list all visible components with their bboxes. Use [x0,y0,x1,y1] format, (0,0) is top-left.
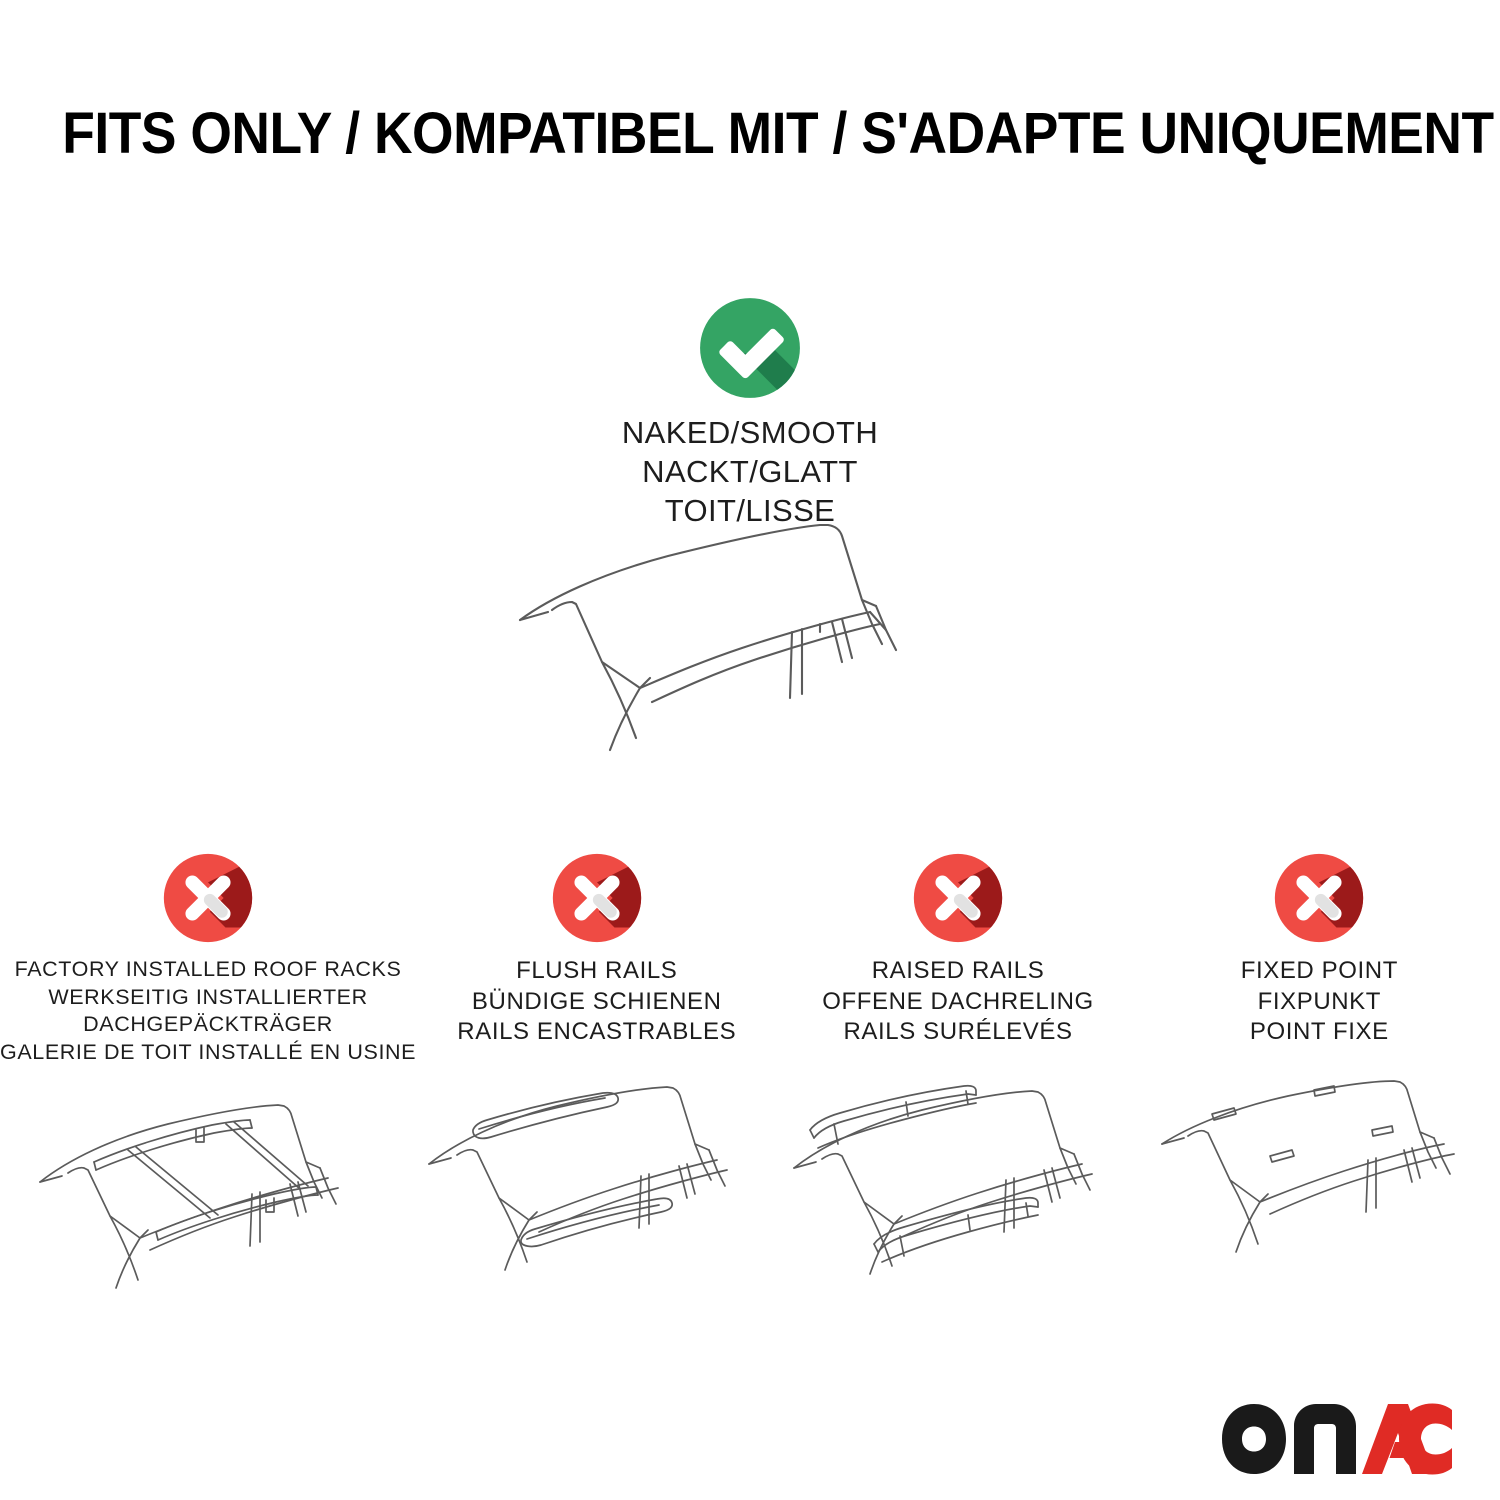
x-circle-icon [551,852,643,944]
brand-name: OMAC [1216,1480,1217,1481]
rejected-label-de-1: BÜNDIGE SCHIENEN [457,987,736,1018]
rejected-labels: FIXED POINT FIXPUNKT POINT FIXE [1241,956,1398,1048]
x-circle-icon [162,852,254,944]
rejected-label-de-1: WERKSEITIG INSTALLIERTER [0,984,416,1012]
rejected-item-flush-rails: FLUSH RAILS BÜNDIGE SCHIENEN RAILS ENCAS… [416,852,777,1312]
roof-with-raised-rails-illustration [777,1072,1138,1312]
approved-label-de: NACKT/GLATT [0,453,1500,492]
x-circle-icon [912,852,1004,944]
page-title-bar: FITS ONLY / KOMPATIBEL MIT / S'ADAPTE UN… [0,104,1500,165]
page-title: FITS ONLY / KOMPATIBEL MIT / S'ADAPTE UN… [62,104,1493,165]
rejected-item-raised-rails: RAISED RAILS OFFENE DACHRELING RAILS SUR… [777,852,1138,1312]
rejected-label-en: FACTORY INSTALLED ROOF RACKS [0,956,416,984]
naked-smooth-roof-illustration [0,512,1500,792]
rejected-labels: FLUSH RAILS BÜNDIGE SCHIENEN RAILS ENCAS… [457,956,736,1048]
rejected-item-fixed-point: FIXED POINT FIXPUNKT POINT FIXE [1139,852,1500,1312]
rejected-label-en: RAISED RAILS [822,956,1094,987]
approved-label-en: NAKED/SMOOTH [0,414,1500,453]
roof-with-factory-rack-illustration [0,1090,416,1330]
roof-with-fixed-points-illustration [1139,1072,1500,1312]
rejected-labels: FACTORY INSTALLED ROOF RACKS WERKSEITIG … [0,956,416,1066]
rejected-roof-types-row: FACTORY INSTALLED ROOF RACKS WERKSEITIG … [0,852,1500,1330]
rejected-label-fr: RAILS SURÉLEVÉS [822,1017,1094,1048]
roof-with-flush-rails-illustration [416,1072,777,1312]
rejected-label-de-1: OFFENE DACHRELING [822,987,1094,1018]
rejected-label-de-1: FIXPUNKT [1241,987,1398,1018]
rejected-label-fr: RAILS ENCASTRABLES [457,1017,736,1048]
rejected-item-factory-installed-roof-racks: FACTORY INSTALLED ROOF RACKS WERKSEITIG … [0,852,416,1330]
rejected-labels: RAISED RAILS OFFENE DACHRELING RAILS SUR… [822,956,1094,1048]
rejected-label-en: FIXED POINT [1241,956,1398,987]
rejected-label-de-2: DACHGEPÄCKTRÄGER [0,1011,416,1039]
rejected-label-fr: POINT FIXE [1241,1017,1398,1048]
check-circle-icon [698,296,802,400]
omac-brand-logo: OMAC [1216,1398,1452,1480]
rejected-label-en: FLUSH RAILS [457,956,736,987]
rejected-label-fr: GALERIE DE TOIT INSTALLÉ EN USINE [0,1039,416,1067]
approved-roof-type-block: NAKED/SMOOTH NACKT/GLATT TOIT/LISSE [0,296,1500,530]
x-circle-icon [1273,852,1365,944]
